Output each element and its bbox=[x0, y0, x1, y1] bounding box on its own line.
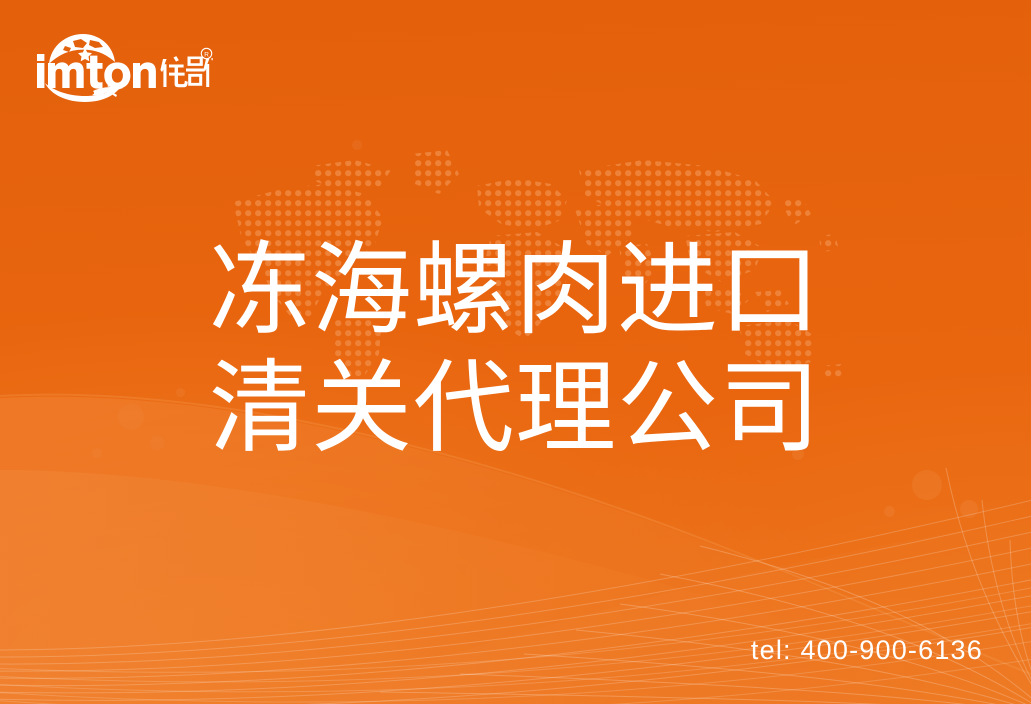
company-logo[interactable]: R bbox=[33, 31, 213, 103]
headline-line-1: 冻海螺肉进口 bbox=[209, 232, 821, 350]
headline-line-2: 清关代理公司 bbox=[209, 350, 821, 468]
swoosh-icon bbox=[45, 82, 123, 102]
page-title: 冻海螺肉进口 清关代理公司 bbox=[209, 232, 821, 468]
promo-banner: R 冻海螺肉进口 清关代理公司 tel: 400-900-6136 bbox=[0, 0, 1031, 704]
contact-telephone[interactable]: tel: 400-900-6136 bbox=[751, 635, 983, 666]
chinese-wordmark bbox=[160, 56, 212, 87]
registered-trademark-icon: R bbox=[201, 48, 211, 58]
svg-text:R: R bbox=[204, 51, 209, 58]
